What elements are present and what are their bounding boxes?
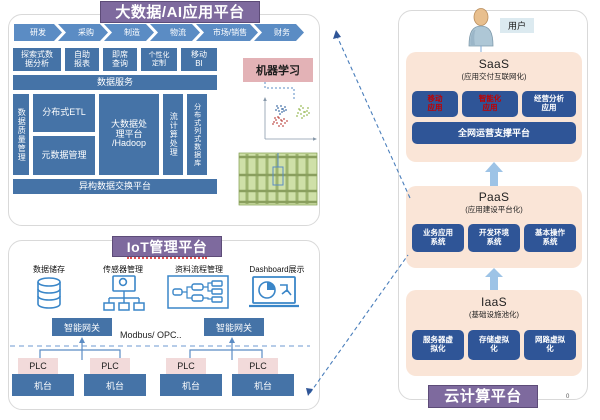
iaas-subtitle: (基础设施池化) [406, 309, 582, 320]
paas-heading: PaaS (应用建设平台化) [406, 190, 582, 215]
smart-gateway-left[interactable]: 智能网关 [52, 318, 112, 336]
ml-scatter-illustration [238, 82, 318, 152]
iaas-box-storage-virt[interactable]: 存储虚拟 化 [468, 330, 520, 360]
machine-box-1[interactable]: 机台 [12, 374, 74, 396]
saas-heading: SaaS (应用交付互联网化) [406, 57, 582, 82]
plc-box-2[interactable]: PLC [90, 358, 130, 374]
database-icon[interactable] [26, 274, 72, 312]
plc-box-4[interactable]: PLC [238, 358, 278, 374]
smart-gateway-right[interactable]: 智能网关 [204, 318, 264, 336]
app-box-adhoc-query[interactable]: 即席 查询 [102, 47, 138, 72]
plc-box-1[interactable]: PLC [18, 358, 58, 374]
hadoop-platform-box[interactable]: 大数据处 理平台 /Hadoop [98, 93, 160, 176]
plc-box-3[interactable]: PLC [166, 358, 206, 374]
metadata-mgmt-box[interactable]: 元数据管理 [32, 135, 96, 176]
chevron-rd[interactable]: 研发 [14, 24, 62, 41]
saas-subtitle: (应用交付互联网化) [406, 71, 582, 82]
iaas-box-server-virt[interactable]: 服务器虚 拟化 [412, 330, 464, 360]
machine-box-3[interactable]: 机台 [160, 374, 222, 396]
iaas-to-paas-arrow [484, 268, 504, 290]
saas-box-ops-platform[interactable]: 全网运营支撑平台 [412, 122, 576, 144]
data-service-bar[interactable]: 数据服务 [12, 74, 218, 91]
iaas-heading: IaaS (基础设施池化) [406, 295, 582, 320]
iot-panel-title: IoT管理平台 [112, 236, 222, 257]
iaas-title: IaaS [406, 295, 582, 309]
app-box-personalization[interactable]: 个性化 定制 [140, 47, 178, 72]
iaas-box-network-virt[interactable]: 网路虚拟 化 [524, 330, 576, 360]
bigdata-panel-title: 大数据/AI应用平台 [100, 1, 260, 23]
user-avatar-icon [466, 8, 496, 50]
columnar-db-box[interactable]: 分布式列式数据库 [186, 93, 208, 176]
cloud-panel-title: 云计算平台 [428, 385, 538, 408]
stream-computing-box[interactable]: 流计算处理 [162, 93, 184, 176]
chevron-sales[interactable]: 市场/销售 [196, 24, 258, 41]
paas-box-business-app[interactable]: 业务应用 系统 [412, 224, 464, 252]
paas-box-dev-env[interactable]: 开发环境 系统 [468, 224, 520, 252]
distributed-etl-box[interactable]: 分布式ETL [32, 93, 96, 133]
chevron-finance[interactable]: 财务 [254, 24, 304, 41]
machine-learning-label[interactable]: 机器学习 [243, 58, 313, 82]
saas-box-mobile-app[interactable]: 移动 应用 [412, 91, 458, 117]
chevron-manufacture[interactable]: 制造 [104, 24, 154, 41]
paas-subtitle: (应用建设平台化) [406, 204, 582, 215]
paas-to-saas-arrow [484, 162, 504, 186]
data-exchange-bar[interactable]: 异构数据交换平台 [12, 178, 218, 195]
dashboard-laptop-icon[interactable] [248, 274, 300, 310]
diagram-canvas: 大数据/AI应用平台 研发 采购 制造 物流 市场/销售 财务 探索式数 据分析… [0, 0, 600, 420]
paas-box-basic-os[interactable]: 基本操作 系统 [524, 224, 576, 252]
saas-title: SaaS [406, 57, 582, 71]
chevron-logistics[interactable]: 物流 [150, 24, 200, 41]
dataflow-icon[interactable] [168, 276, 228, 308]
page-number: 0 [566, 394, 569, 400]
app-box-mobile-bi[interactable]: 移动 BI [180, 47, 218, 72]
saas-box-analytics-app[interactable]: 经营分析 应用 [522, 91, 576, 117]
app-box-selfservice-report[interactable]: 自助 报表 [64, 47, 100, 72]
paas-title: PaaS [406, 190, 582, 204]
process-chevron-bar: 研发 采购 制造 物流 市场/销售 财务 [14, 24, 304, 41]
machine-box-4[interactable]: 机台 [232, 374, 294, 396]
app-box-exploratory[interactable]: 探索式数 据分析 [12, 47, 62, 72]
machine-box-2[interactable]: 机台 [84, 374, 146, 396]
iot-panel-title-text: IoT管理平台 [127, 237, 208, 259]
factory-floor-grid-icon [239, 153, 317, 205]
iot-module-label-dataflow: 资料流程管理 [160, 264, 238, 275]
sensor-network-icon[interactable] [100, 274, 148, 312]
saas-box-smart-app[interactable]: 智能化 应用 [462, 91, 518, 117]
chevron-purchase[interactable]: 采购 [58, 24, 108, 41]
data-quality-box[interactable]: 数据质量管理 [12, 93, 30, 176]
user-label: 用户 [500, 18, 534, 33]
